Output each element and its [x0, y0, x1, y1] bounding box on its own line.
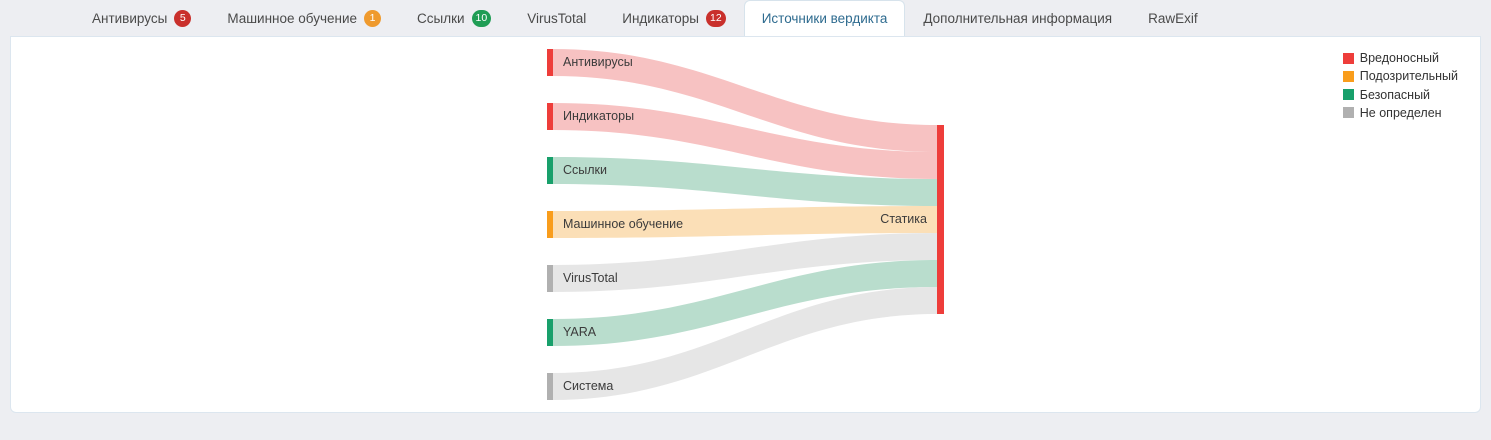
sankey-target-node[interactable]	[937, 125, 944, 314]
legend-label: Подозрительный	[1360, 68, 1458, 84]
tab-label: Машинное обучение	[227, 11, 357, 26]
tab-bar: Антивирусы5Машинное обучение1Ссылки10Vir…	[0, 0, 1491, 36]
tab-label: VirusTotal	[527, 11, 586, 26]
sankey-source-node[interactable]	[547, 319, 553, 346]
sankey-source-node[interactable]	[547, 49, 553, 76]
tab-3[interactable]: VirusTotal	[509, 0, 604, 36]
verdict-sources-panel: АнтивирусыИндикаторыСсылкиМашинное обуче…	[10, 36, 1481, 413]
tab-label: Индикаторы	[622, 11, 699, 26]
tab-2[interactable]: Ссылки10	[399, 0, 509, 36]
tab-1[interactable]: Машинное обучение1	[209, 0, 399, 36]
tab-6[interactable]: Дополнительная информация	[905, 0, 1130, 36]
tab-label: RawExif	[1148, 11, 1198, 26]
tab-badge: 5	[174, 10, 191, 27]
legend-label: Безопасный	[1360, 87, 1430, 103]
sankey-source-node[interactable]	[547, 211, 553, 238]
sankey-source-node[interactable]	[547, 103, 553, 130]
tab-badge: 12	[706, 10, 726, 27]
tab-0[interactable]: Антивирусы5	[74, 0, 209, 36]
sankey-links	[553, 49, 937, 400]
tab-5[interactable]: Источники вердикта	[744, 0, 906, 36]
tab-label: Источники вердикта	[762, 11, 888, 26]
legend-item[interactable]: Вредоносный	[1343, 50, 1458, 66]
tab-7[interactable]: RawExif	[1130, 0, 1216, 36]
tab-label: Антивирусы	[92, 11, 167, 26]
tab-badge: 1	[364, 10, 381, 27]
tab-label: Дополнительная информация	[923, 11, 1112, 26]
legend-swatch-icon	[1343, 53, 1354, 64]
legend-label: Вредоносный	[1360, 50, 1439, 66]
legend: ВредоносныйПодозрительныйБезопасныйНе оп…	[1343, 50, 1458, 121]
legend-item[interactable]: Не определен	[1343, 105, 1458, 121]
sankey-source-node[interactable]	[547, 157, 553, 184]
legend-swatch-icon	[1343, 89, 1354, 100]
sankey-link[interactable]	[553, 206, 937, 238]
tab-4[interactable]: Индикаторы12	[604, 0, 743, 36]
legend-swatch-icon	[1343, 107, 1354, 118]
tab-label: Ссылки	[417, 11, 465, 26]
legend-item[interactable]: Безопасный	[1343, 87, 1458, 103]
legend-swatch-icon	[1343, 71, 1354, 82]
legend-item[interactable]: Подозрительный	[1343, 68, 1458, 84]
sankey-diagram	[11, 37, 1481, 413]
sankey-source-node[interactable]	[547, 265, 553, 292]
legend-label: Не определен	[1360, 105, 1442, 121]
tab-badge: 10	[472, 10, 492, 27]
sankey-source-node[interactable]	[547, 373, 553, 400]
